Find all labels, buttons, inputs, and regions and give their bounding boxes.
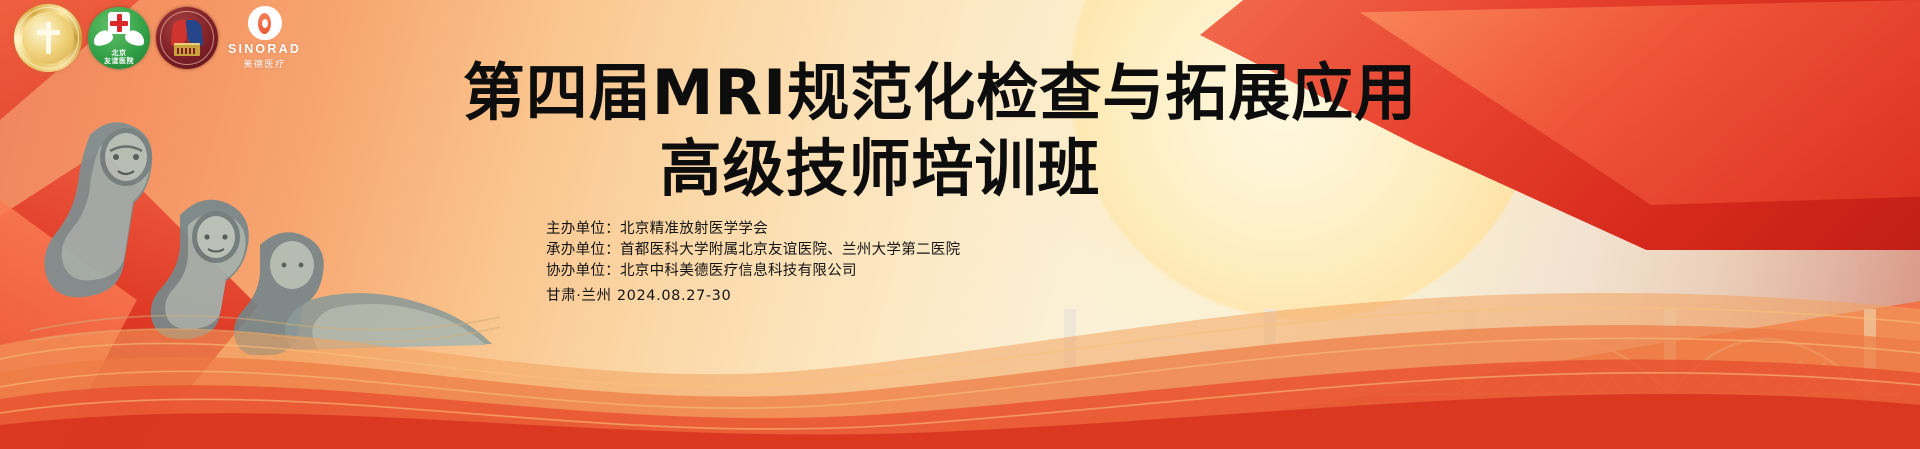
info-organizer: 主办单位：北京精准放射医学学会 <box>546 219 960 240</box>
hospital-logo-label: 北京 友谊医院 <box>88 50 150 66</box>
red-cross-icon <box>108 12 130 34</box>
banner-info-block: 主办单位：北京精准放射医学学会 承办单位：首都医科大学附属北京友谊医院、兰州大学… <box>546 219 960 307</box>
sinorad-eye-icon <box>248 6 282 40</box>
sinorad-eye-pupil <box>258 13 271 34</box>
info-host: 承办单位：首都医科大学附属北京友谊医院、兰州大学第二医院 <box>546 240 960 261</box>
info-co-organizer: 协办单位：北京中科美德医疗信息科技有限公司 <box>546 261 960 282</box>
sinorad-logo: SINORAD 美德医疗 <box>228 6 301 70</box>
hospital-logo-label-line1: 北京 <box>112 50 127 57</box>
beijing-friendship-hospital-logo: 北京 友谊医院 <box>88 7 150 69</box>
gold-logo-inner <box>22 12 74 64</box>
hospital-logo-label-line2: 友谊医院 <box>104 58 134 65</box>
gold-emblem-logo <box>14 4 82 72</box>
sponsor-logos: 北京 友谊医院 SINORAD 美德医疗 <box>14 4 301 72</box>
sinorad-brand-text-cn: 美德医疗 <box>243 57 285 70</box>
maroon-logo-mark-icon <box>170 18 204 52</box>
info-place-date: 甘肃·兰州 2024.08.27-30 <box>546 286 960 307</box>
conference-banner: 北京 友谊医院 SINORAD 美德医疗 第四届MRI规范化检查与拓展应用 高级… <box>0 0 1920 449</box>
dove-icon-right <box>123 28 146 47</box>
maroon-university-hospital-logo <box>156 7 218 69</box>
gate-building-icon <box>174 43 200 56</box>
gold-cross-icon <box>35 22 61 54</box>
sinorad-brand-text: SINORAD <box>228 42 301 56</box>
